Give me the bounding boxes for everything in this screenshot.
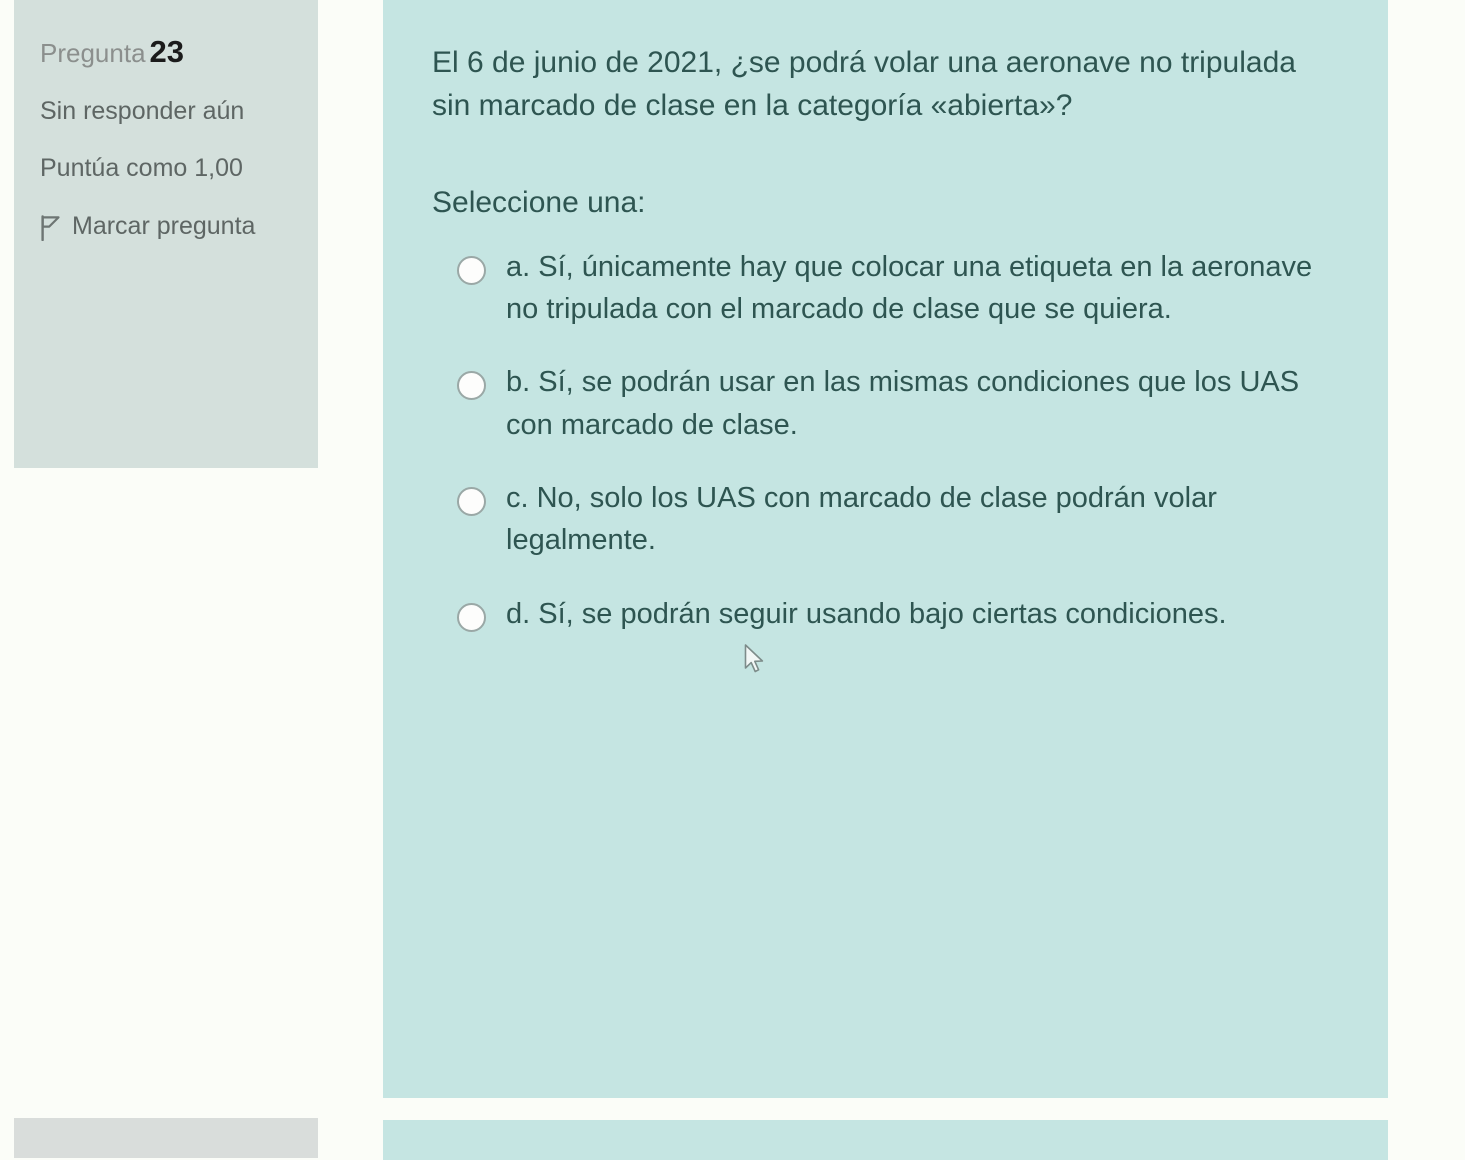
- question-label: Pregunta: [40, 38, 146, 68]
- next-question-info-panel: [14, 1118, 318, 1158]
- radio-button-d[interactable]: [457, 603, 486, 632]
- question-status: Sin responder aún: [40, 96, 292, 128]
- answer-option-d[interactable]: d. Sí, se podrán seguir usando bajo cier…: [432, 593, 1342, 635]
- question-number: 23: [150, 34, 184, 69]
- radio-button-c[interactable]: [457, 487, 486, 516]
- radio-button-b[interactable]: [457, 371, 486, 400]
- flag-icon: [40, 215, 61, 250]
- question-grade: Puntúa como 1,00: [40, 153, 292, 185]
- flag-question-button[interactable]: Marcar pregunta: [40, 211, 292, 250]
- radio-button-a[interactable]: [457, 256, 486, 285]
- question-stem-text: El 6 de junio de 2021, ¿se podrá volar u…: [432, 42, 1312, 128]
- question-content-panel: El 6 de junio de 2021, ¿se podrá volar u…: [383, 0, 1388, 1098]
- question-number-header: Pregunta23: [40, 34, 292, 70]
- flag-question-label: Marcar pregunta: [72, 211, 255, 243]
- answer-options-list: a. Sí, únicamente hay que colocar una et…: [432, 246, 1342, 635]
- select-one-prompt: Seleccione una:: [432, 182, 1342, 224]
- answer-option-d-label: d. Sí, se podrán seguir usando bajo cier…: [506, 593, 1227, 635]
- answer-option-c[interactable]: c. No, solo los UAS con marcado de clase…: [432, 477, 1342, 562]
- question-info-panel: Pregunta23 Sin responder aún Puntúa como…: [14, 0, 318, 468]
- answer-option-c-label: c. No, solo los UAS con marcado de clase…: [506, 477, 1336, 562]
- answer-option-b-label: b. Sí, se podrán usar en las mismas cond…: [506, 361, 1336, 446]
- answer-option-a[interactable]: a. Sí, únicamente hay que colocar una et…: [432, 246, 1342, 331]
- next-question-content-panel: [383, 1120, 1388, 1160]
- answer-option-b[interactable]: b. Sí, se podrán usar en las mismas cond…: [432, 361, 1342, 446]
- answer-option-a-label: a. Sí, únicamente hay que colocar una et…: [506, 246, 1336, 331]
